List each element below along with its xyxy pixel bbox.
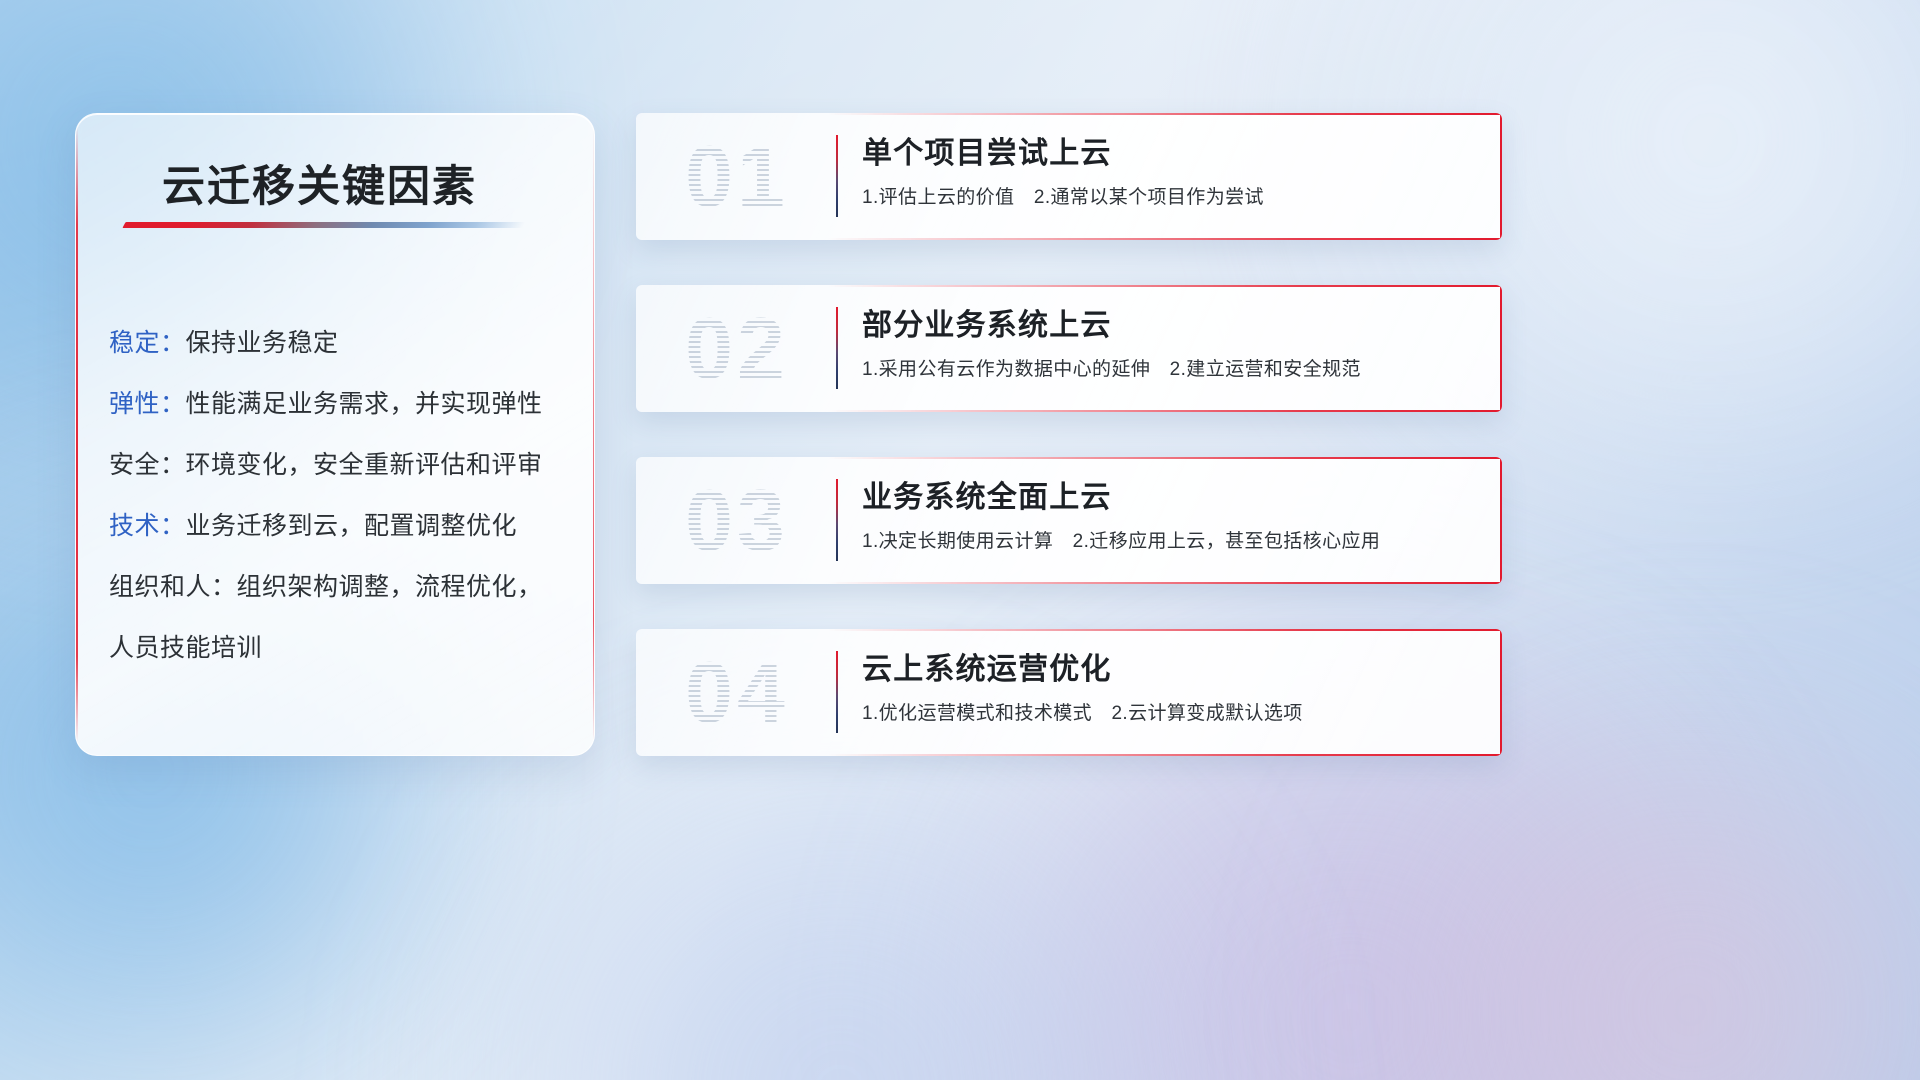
card-top-accent-line bbox=[827, 285, 1502, 287]
card-right-accent-line bbox=[1500, 457, 1502, 584]
card-description: 1.决定长期使用云计算 2.迁移应用上云，甚至包括核心应用 bbox=[862, 529, 1462, 555]
factor-label: 组织和人： bbox=[109, 567, 237, 603]
factor-label: 稳定： bbox=[109, 323, 186, 359]
factor-text: 业务迁移到云，配置调整优化 bbox=[186, 506, 518, 542]
factor-row: 稳定：保持业务稳定 bbox=[109, 310, 570, 371]
factor-label: 安全： bbox=[109, 445, 186, 481]
card-bottom-accent-line bbox=[827, 582, 1502, 584]
key-factors-panel: 云迁移关键因素 稳定：保持业务稳定弹性：性能满足业务需求，并实现弹性安全：环境变… bbox=[75, 113, 595, 756]
factor-row: 组织和人：组织架构调整，流程优化， bbox=[109, 554, 570, 615]
factor-list: 稳定：保持业务稳定弹性：性能满足业务需求，并实现弹性安全：环境变化，安全重新评估… bbox=[109, 310, 570, 676]
card-divider-line bbox=[836, 651, 838, 733]
card-description: 1.采用公有云作为数据中心的延伸 2.建立运营和安全规范 bbox=[862, 357, 1462, 383]
factor-row: 安全：环境变化，安全重新评估和评审 bbox=[109, 432, 570, 493]
stage-card[interactable]: 04云上系统运营优化1.优化运营模式和技术模式 2.云计算变成默认选项 bbox=[636, 629, 1502, 756]
card-title: 单个项目尝试上云 bbox=[862, 133, 1462, 175]
card-bottom-accent-line bbox=[827, 754, 1502, 756]
stage-number: 01 bbox=[662, 129, 812, 225]
factor-row: 技术：业务迁移到云，配置调整优化 bbox=[109, 493, 570, 554]
card-right-accent-line bbox=[1500, 285, 1502, 412]
stage-number: 04 bbox=[662, 645, 812, 741]
card-description: 1.评估上云的价值 2.通常以某个项目作为尝试 bbox=[862, 185, 1462, 211]
factor-label: 弹性： bbox=[109, 384, 186, 420]
stage-card[interactable]: 01单个项目尝试上云1.评估上云的价值 2.通常以某个项目作为尝试 bbox=[636, 113, 1502, 240]
card-body: 业务系统全面上云1.决定长期使用云计算 2.迁移应用上云，甚至包括核心应用 bbox=[862, 477, 1462, 555]
card-divider-line bbox=[836, 307, 838, 389]
title-underline-accent bbox=[122, 222, 525, 228]
factor-text: 人员技能培训 bbox=[109, 628, 262, 664]
panel-title: 云迁移关键因素 bbox=[162, 152, 477, 214]
card-divider-line bbox=[836, 135, 838, 217]
slide-stage: 云迁移关键因素 稳定：保持业务稳定弹性：性能满足业务需求，并实现弹性安全：环境变… bbox=[0, 0, 1920, 1080]
card-body: 云上系统运营优化1.优化运营模式和技术模式 2.云计算变成默认选项 bbox=[862, 649, 1462, 727]
card-top-accent-line bbox=[827, 113, 1502, 115]
stage-card-list: 01单个项目尝试上云1.评估上云的价值 2.通常以某个项目作为尝试02部分业务系… bbox=[636, 113, 1502, 756]
card-title: 业务系统全面上云 bbox=[862, 477, 1462, 519]
factor-label: 技术： bbox=[109, 506, 186, 542]
factor-text: 组织架构调整，流程优化， bbox=[237, 567, 543, 603]
card-bottom-accent-line bbox=[827, 238, 1502, 240]
factor-row: 人员技能培训 bbox=[109, 615, 570, 676]
factor-text: 环境变化，安全重新评估和评审 bbox=[186, 445, 543, 481]
stage-card[interactable]: 02部分业务系统上云1.采用公有云作为数据中心的延伸 2.建立运营和安全规范 bbox=[636, 285, 1502, 412]
card-right-accent-line bbox=[1500, 629, 1502, 756]
stage-number: 02 bbox=[662, 301, 812, 397]
card-title: 部分业务系统上云 bbox=[862, 305, 1462, 347]
card-right-accent-line bbox=[1500, 113, 1502, 240]
card-top-accent-line bbox=[827, 629, 1502, 631]
card-body: 单个项目尝试上云1.评估上云的价值 2.通常以某个项目作为尝试 bbox=[862, 133, 1462, 211]
factor-row: 弹性：性能满足业务需求，并实现弹性 bbox=[109, 371, 570, 432]
factor-text: 性能满足业务需求，并实现弹性 bbox=[186, 384, 543, 420]
card-body: 部分业务系统上云1.采用公有云作为数据中心的延伸 2.建立运营和安全规范 bbox=[862, 305, 1462, 383]
card-title: 云上系统运营优化 bbox=[862, 649, 1462, 691]
card-description: 1.优化运营模式和技术模式 2.云计算变成默认选项 bbox=[862, 701, 1462, 727]
card-bottom-accent-line bbox=[827, 410, 1502, 412]
card-top-accent-line bbox=[827, 457, 1502, 459]
factor-text: 保持业务稳定 bbox=[186, 323, 339, 359]
stage-number: 03 bbox=[662, 473, 812, 569]
card-divider-line bbox=[836, 479, 838, 561]
stage-card[interactable]: 03业务系统全面上云1.决定长期使用云计算 2.迁移应用上云，甚至包括核心应用 bbox=[636, 457, 1502, 584]
